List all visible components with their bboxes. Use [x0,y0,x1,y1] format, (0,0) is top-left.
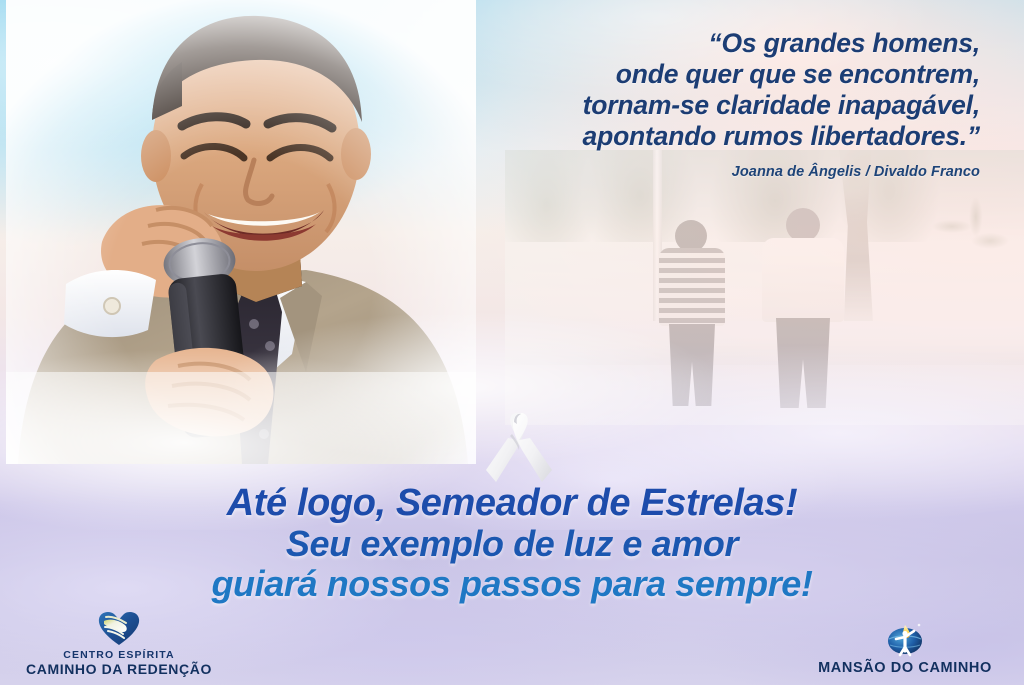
logo-mansao-do-caminho: MANSÃO DO CAMINHO [800,617,1010,677]
memorial-poster: “Os grandes homens, onde quer que se enc… [0,0,1024,685]
headline-line-3: guiará nossos passos para sempre! [0,564,1024,604]
globe-figure-flame-logo-icon [883,617,927,657]
white-mourning-ribbon-icon [484,410,554,486]
heart-with-hands-logo-icon [97,610,141,646]
quote-line-2: onde quer que se encontrem, [360,59,980,90]
photo-person-striped-shirt [655,220,729,405]
left-logo-line-1: CENTRO ESPÍRITA [14,649,224,661]
background-photo-two-people-walking [505,150,1024,425]
right-logo-line-1: MANSÃO DO CAMINHO [800,660,1010,677]
headline-line-2: Seu exemplo de luz e amor [0,524,1024,564]
quote-block: “Os grandes homens, onde quer que se enc… [360,28,980,180]
photo-palm [923,188,1019,284]
left-logo-line-2: CAMINHO DA REDENÇÃO [14,661,224,677]
quote-line-1: “Os grandes homens, [360,28,980,59]
photo-person-white-shirt [760,208,846,406]
quote-line-3: tornam-se claridade inapagável, [360,90,980,121]
quote-attribution: Joanna de Ângelis / Divaldo Franco [360,164,980,180]
headline-line-1: Até logo, Semeador de Estrelas! [0,482,1024,524]
headline-block: Até logo, Semeador de Estrelas! Seu exem… [0,482,1024,604]
quote-line-4: apontando rumos libertadores.” [360,121,980,152]
logo-centro-espirita-caminho-da-redencao: CENTRO ESPÍRITA CAMINHO DA REDENÇÃO [14,610,224,677]
